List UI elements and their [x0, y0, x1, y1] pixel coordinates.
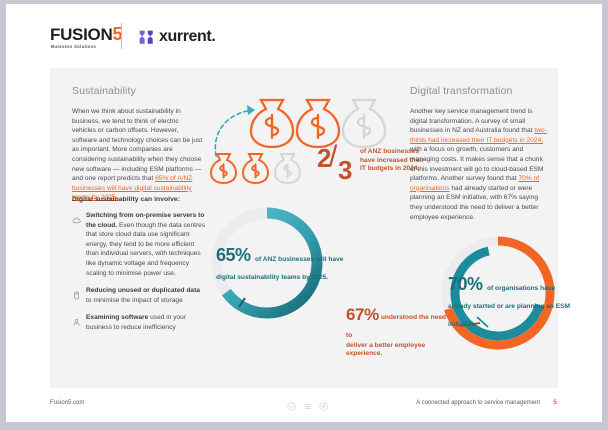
footer-tagline: A connected approach to service manageme… — [416, 400, 540, 406]
dashed-arrow-path — [215, 110, 252, 156]
list-item: Switching from on-premise servers to the… — [72, 211, 206, 278]
page-header: FUSION5 Business Solutions xurrent. — [6, 4, 602, 64]
list-item-text: Examining software used in your business… — [86, 313, 206, 332]
arrow-head — [247, 105, 255, 115]
fraction-slash: / — [329, 142, 337, 172]
sustainability-subhead: Digital sustainability can involve: — [72, 196, 180, 203]
xurrent-logo-text: xurrent. — [159, 28, 215, 46]
list-item-rest: to minimise the impact of storage — [86, 297, 183, 304]
section-title-digital-transformation: Digital transformation — [410, 85, 513, 97]
money-bag-small-2 — [243, 154, 268, 183]
digital-body-part1: Another key service management trend is … — [410, 108, 534, 134]
list-item-text: Switching from on-premise servers to the… — [86, 211, 206, 278]
stat-sixty-seven-value: 67% — [346, 306, 379, 323]
donut-label-70: 70% of organisations have already starte… — [448, 275, 576, 331]
stat-two-thirds: 2 / 3 of ANZ businesses have increased t… — [316, 145, 406, 185]
list-item: Examining software used in your business… — [72, 313, 206, 332]
fraction-denominator: 3 — [338, 157, 352, 183]
digital-transformation-body: Another key service management trend is … — [410, 107, 550, 222]
stat-sixty-seven-rest: deliver a better employee experience. — [346, 342, 450, 359]
footer-navigation — [287, 398, 328, 416]
page-footer: Fusion5.com A connected approach to serv… — [6, 388, 602, 422]
footer-page-number: 5 — [553, 399, 557, 406]
database-icon — [72, 286, 86, 305]
menu-icon[interactable] — [303, 398, 312, 416]
sustainability-body-part1: When we think about sustainability in bu… — [72, 108, 202, 182]
donut-percent-65: 65% — [216, 245, 251, 265]
money-bag-large-3 — [343, 100, 385, 147]
money-bag-small-3 — [275, 154, 300, 183]
fusion5-logo-name: FUSION — [50, 25, 112, 44]
donut-label-65: 65% of ANZ businesses will have digital … — [216, 246, 346, 284]
logo-divider — [121, 23, 122, 49]
stat-sixty-seven: 67% understood the need to deliver a bet… — [346, 306, 450, 359]
fusion5-logo-tagline: Business Solutions — [51, 44, 96, 49]
money-bag-small-1 — [211, 154, 236, 183]
document-page: FUSION5 Business Solutions xurrent. Sust… — [6, 4, 602, 422]
money-bag-large-1 — [251, 100, 293, 147]
list-item-lead: Reducing unused or duplicated data — [86, 287, 200, 294]
list-item: Reducing unused or duplicated data to mi… — [72, 286, 206, 305]
list-item-text: Reducing unused or duplicated data to mi… — [86, 286, 206, 305]
sustainability-body: When we think about sustainability in bu… — [72, 107, 203, 203]
footer-website[interactable]: Fusion5.com — [50, 400, 84, 406]
zoom-out-icon[interactable] — [287, 398, 296, 416]
list-item-rest: Even though the data centres that store … — [86, 222, 205, 277]
section-title-sustainability: Sustainability — [72, 85, 136, 97]
cloud-icon — [72, 211, 86, 278]
zoom-in-icon[interactable] — [319, 398, 328, 416]
content-panel: Sustainability When we think about susta… — [50, 68, 558, 388]
donut-percent-70: 70% — [448, 274, 483, 294]
xurrent-logo-mark — [139, 30, 154, 45]
list-item-lead: Examining software — [86, 314, 148, 321]
fusion5-logo: FUSION5 — [50, 25, 122, 43]
sustainability-bullet-list: Switching from on-premise servers to the… — [72, 211, 206, 341]
user-icon — [72, 313, 86, 332]
